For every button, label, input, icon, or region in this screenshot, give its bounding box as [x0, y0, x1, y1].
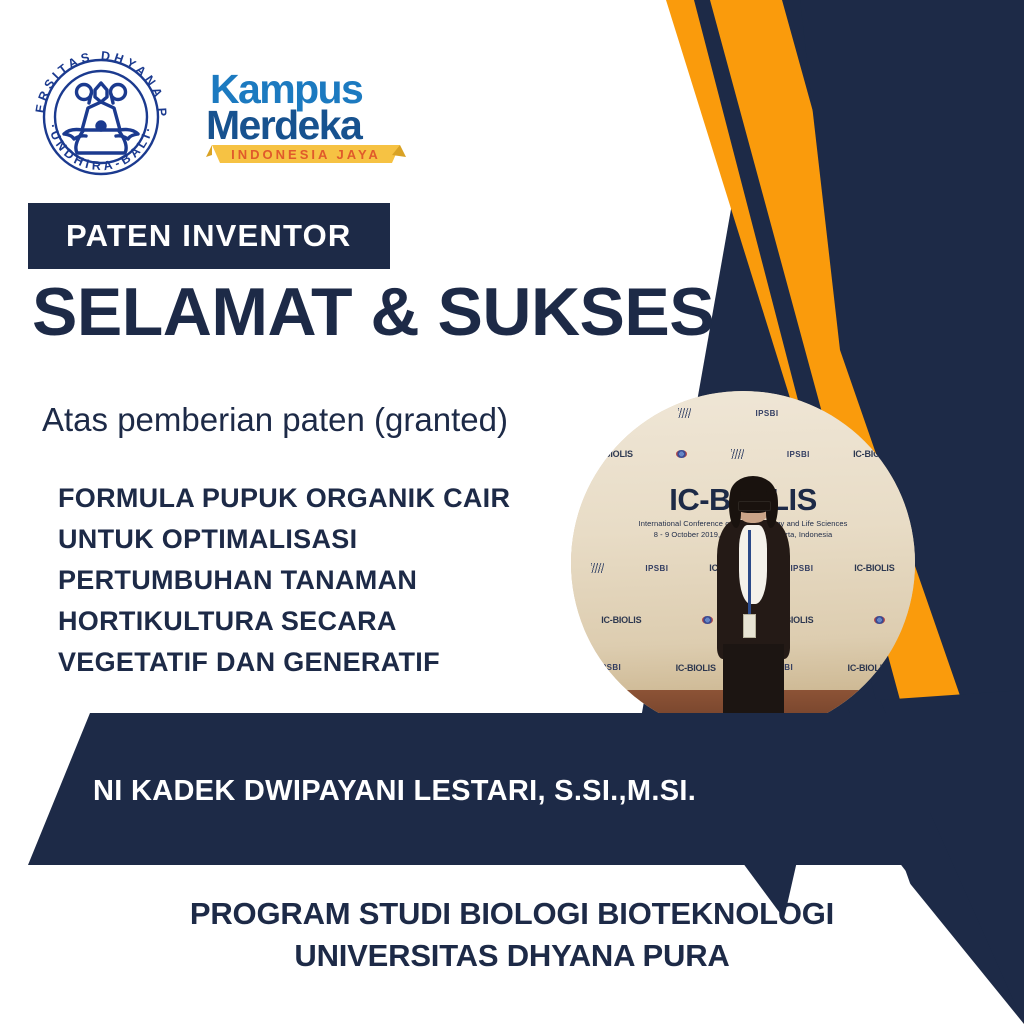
inventor-name: NI KADEK DWIPAYANI LESTARI, S.SI.,M.SI. — [93, 775, 696, 808]
paten-inventor-badge: PATEN INVENTOR — [28, 203, 390, 269]
person-name-tag — [743, 614, 756, 638]
poster-canvas: UNIVERSITAS DHYANA PURA ·UNDHIRA-BALI· — [0, 0, 1024, 1024]
patent-title-line: UNTUK OPTIMALISASI — [58, 519, 598, 560]
backdrop-event-label: IC-BIOLIS — [676, 663, 716, 673]
esa-unggul-logo-icon — [603, 409, 614, 417]
backdrop-event-label: IC-BIOLIS — [843, 408, 883, 418]
person-glasses — [738, 501, 771, 511]
subtitle-text: Atas pemberian paten (granted) — [42, 402, 508, 438]
backdrop-logo-row: IPSBI IC-BIOLIS — [571, 408, 915, 418]
patent-title-line: FORMULA PUPUK ORGANIK CAIR — [58, 478, 598, 519]
backdrop-event-label: IC-BIOLIS — [601, 615, 641, 625]
backdrop-sponsor-label: IPSBI — [598, 663, 621, 672]
backdrop-event-label: IC-BIOLIS — [854, 563, 894, 573]
undhira-logo: UNIVERSITAS DHYANA PURA ·UNDHIRA-BALI· — [22, 38, 180, 196]
backdrop-sponsor-label: IPSBI — [787, 450, 810, 459]
kampus-merdeka-icon: Kampus Merdeka INDONESIA JAYA — [206, 61, 406, 173]
backdrop-event-label: IC-BIOLIS — [593, 449, 633, 459]
patent-title-line: PERTUMBUHAN TANAMAN — [58, 560, 598, 601]
person-lanyard — [748, 530, 751, 619]
esa-unggul-logo-icon — [676, 450, 687, 458]
ipsbi-wave-icon — [591, 563, 604, 573]
km-line2: Merdeka — [206, 102, 364, 148]
backdrop-logo-row: IC-BIOLIS IPSBI IC-BIOLIS — [571, 449, 915, 459]
esa-unggul-logo-icon — [874, 616, 885, 624]
kampus-merdeka-logo: Kampus Merdeka INDONESIA JAYA — [206, 61, 406, 173]
backdrop-sponsor-label: IPSBI — [756, 409, 779, 418]
page-title: SELAMAT & SUKSES — [32, 277, 714, 348]
footer-line-2: UNIVERSITAS DHYANA PURA — [0, 935, 1024, 977]
undhira-seal-icon: UNIVERSITAS DHYANA PURA ·UNDHIRA-BALI· — [22, 38, 180, 196]
conference-backdrop: IPSBI IC-BIOLIS IC-BIOLIS IPSBI IC-BIOLI… — [571, 391, 915, 735]
person-blouse — [739, 525, 767, 604]
person-figure — [712, 480, 795, 728]
patent-title-block: FORMULA PUPUK ORGANIK CAIR UNTUK OPTIMAL… — [58, 478, 598, 683]
patent-title-line: VEGETATIF DAN GENERATIF — [58, 642, 598, 683]
ipsbi-wave-icon — [731, 449, 744, 459]
inventor-photo: IPSBI IC-BIOLIS IC-BIOLIS IPSBI IC-BIOLI… — [571, 391, 915, 735]
ipsbi-wave-icon — [678, 408, 691, 418]
footer-block: PROGRAM STUDI BIOLOGI BIOTEKNOLOGI UNIVE… — [0, 893, 1024, 977]
km-ribbon-text: INDONESIA JAYA — [231, 147, 381, 162]
logo-row: UNIVERSITAS DHYANA PURA ·UNDHIRA-BALI· — [22, 38, 406, 196]
backdrop-event-label: IC-BIOLIS — [853, 449, 893, 459]
patent-title-line: HORTIKULTURA SECARA — [58, 601, 598, 642]
footer-line-1: PROGRAM STUDI BIOLOGI BIOTEKNOLOGI — [0, 893, 1024, 935]
backdrop-sponsor-label: IPSBI — [645, 564, 668, 573]
backdrop-event-label: IC-BIOLIS — [848, 663, 888, 673]
